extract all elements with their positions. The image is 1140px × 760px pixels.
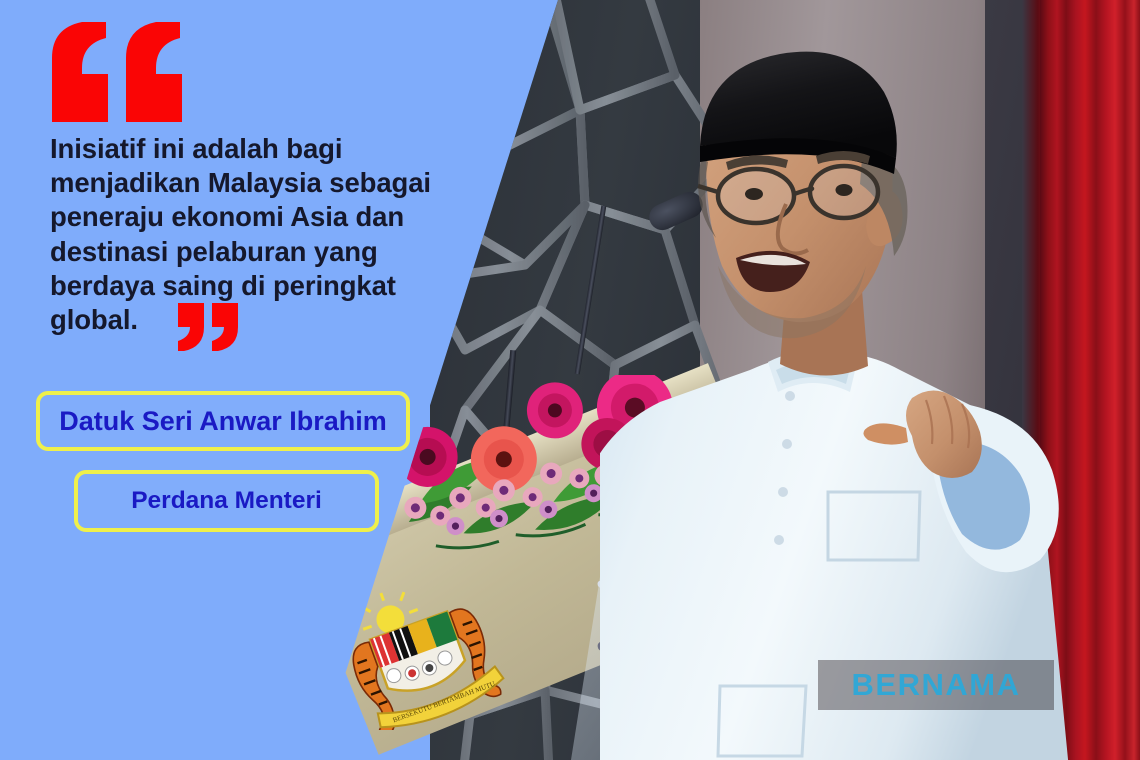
speaker-name-box: Datuk Seri Anwar Ibrahim — [36, 391, 410, 451]
quote-card: BERSEKUTU BERTAMBAH MUTU — [0, 0, 1140, 760]
speaker-name-label: Datuk Seri Anwar Ibrahim — [59, 406, 387, 437]
speaker-title-label: Perdana Menteri — [131, 487, 322, 515]
open-quote-icon — [52, 22, 184, 122]
bernama-watermark: BERNAMA — [818, 660, 1054, 710]
close-quote-icon — [178, 303, 240, 351]
quote-text: Inisiatif ini adalah bagi menjadikan Mal… — [50, 132, 460, 337]
bernama-watermark-label: BERNAMA — [852, 667, 1021, 703]
speaker-title-box: Perdana Menteri — [74, 470, 379, 532]
quote-panel: Inisiatif ini adalah bagi menjadikan Mal… — [0, 0, 620, 760]
speaker-figure — [600, 40, 1120, 760]
